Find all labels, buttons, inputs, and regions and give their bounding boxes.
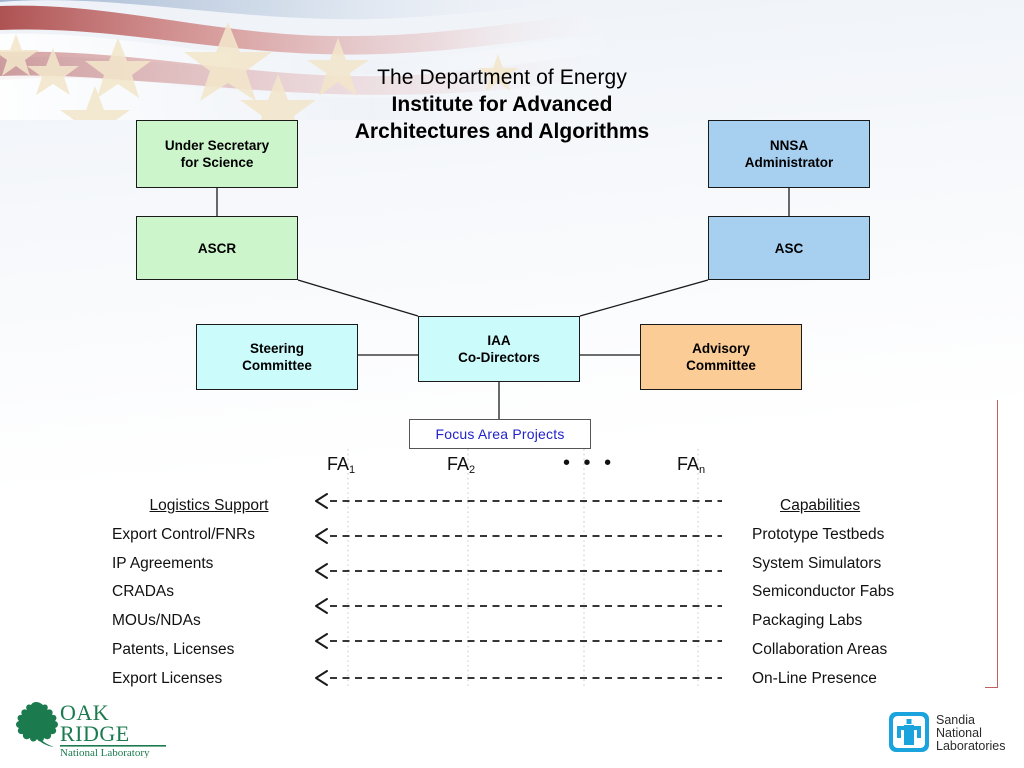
list-item: Patents, Licenses: [112, 636, 312, 665]
title-line-1: The Department of Energy: [242, 64, 762, 91]
org-box-nnsa-administrator[interactable]: NNSA Administrator: [708, 120, 870, 188]
list-item: MOUs/NDAs: [112, 607, 312, 636]
logistics-support-heading: Logistics Support: [112, 492, 312, 521]
org-box-ascr[interactable]: ASCR: [136, 216, 298, 280]
ornl-line-2: RIDGE: [60, 721, 130, 746]
list-item: Collaboration Areas: [752, 636, 972, 665]
title-line-3: Architectures and Algorithms: [242, 118, 762, 145]
title-line-2: Institute for Advanced: [242, 91, 762, 118]
org-box-advisory-committee[interactable]: Advisory Committee: [640, 324, 802, 390]
list-item: On-Line Presence: [752, 665, 972, 694]
fa-column-guides: [348, 449, 698, 686]
oak-leaf-icon: [16, 702, 58, 747]
fa-2-sub: 2: [469, 464, 475, 476]
fa-2-base: FA: [447, 454, 469, 474]
org-box-asc[interactable]: ASC: [708, 216, 870, 280]
ornl-logo-graphic: OAK RIDGE National Laboratory: [12, 700, 168, 758]
sandia-line-1: Sandia: [936, 713, 975, 727]
sandia-line-3: Laboratories: [936, 739, 1006, 753]
logistics-support-list: Logistics Support Export Control/FNRs IP…: [112, 492, 312, 694]
fa-1-base: FA: [327, 454, 349, 474]
org-box-under-secretary-for-science[interactable]: Under Secretary for Science: [136, 120, 298, 188]
fa-1-sub: 1: [349, 464, 355, 476]
capabilities-list: Capabilities Prototype Testbeds System S…: [752, 492, 972, 694]
focus-area-ellipsis: • • •: [563, 452, 615, 475]
right-edge-rule: [997, 400, 998, 688]
sandia-national-laboratories-logo: Sandia National Laboratories: [888, 708, 1012, 758]
list-item: IP Agreements: [112, 550, 312, 579]
capabilities-heading: Capabilities: [752, 492, 972, 521]
focus-area-label-2: FA2: [447, 454, 475, 475]
sandia-logo-graphic: Sandia National Laboratories: [888, 708, 1012, 758]
list-item: Export Licenses: [112, 665, 312, 694]
oak-ridge-national-laboratory-logo: OAK RIDGE National Laboratory: [12, 700, 168, 758]
sandia-thunderbird-icon: [889, 712, 929, 752]
right-edge-rule-foot: [985, 687, 998, 688]
sandia-line-2: National: [936, 726, 982, 740]
focus-area-label-1: FA1: [327, 454, 355, 475]
slide-canvas: The Department of Energy Institute for A…: [0, 0, 1024, 768]
focus-area-arrows: [316, 494, 722, 685]
org-box-steering-committee[interactable]: Steering Committee: [196, 324, 358, 390]
list-item: Prototype Testbeds: [752, 521, 972, 550]
page-title: The Department of Energy Institute for A…: [242, 64, 762, 145]
list-item: Export Control/FNRs: [112, 521, 312, 550]
list-item: Packaging Labs: [752, 607, 972, 636]
list-item: Semiconductor Fabs: [752, 578, 972, 607]
fa-n-base: FA: [677, 454, 699, 474]
org-box-focus-area-projects[interactable]: Focus Area Projects: [409, 419, 591, 449]
fa-n-sub: n: [699, 464, 705, 476]
focus-area-label-n: FAn: [677, 454, 705, 475]
list-item: CRADAs: [112, 578, 312, 607]
list-item: System Simulators: [752, 550, 972, 579]
ornl-line-3: National Laboratory: [60, 747, 150, 758]
org-box-iaa-co-directors[interactable]: IAA Co-Directors: [418, 316, 580, 382]
